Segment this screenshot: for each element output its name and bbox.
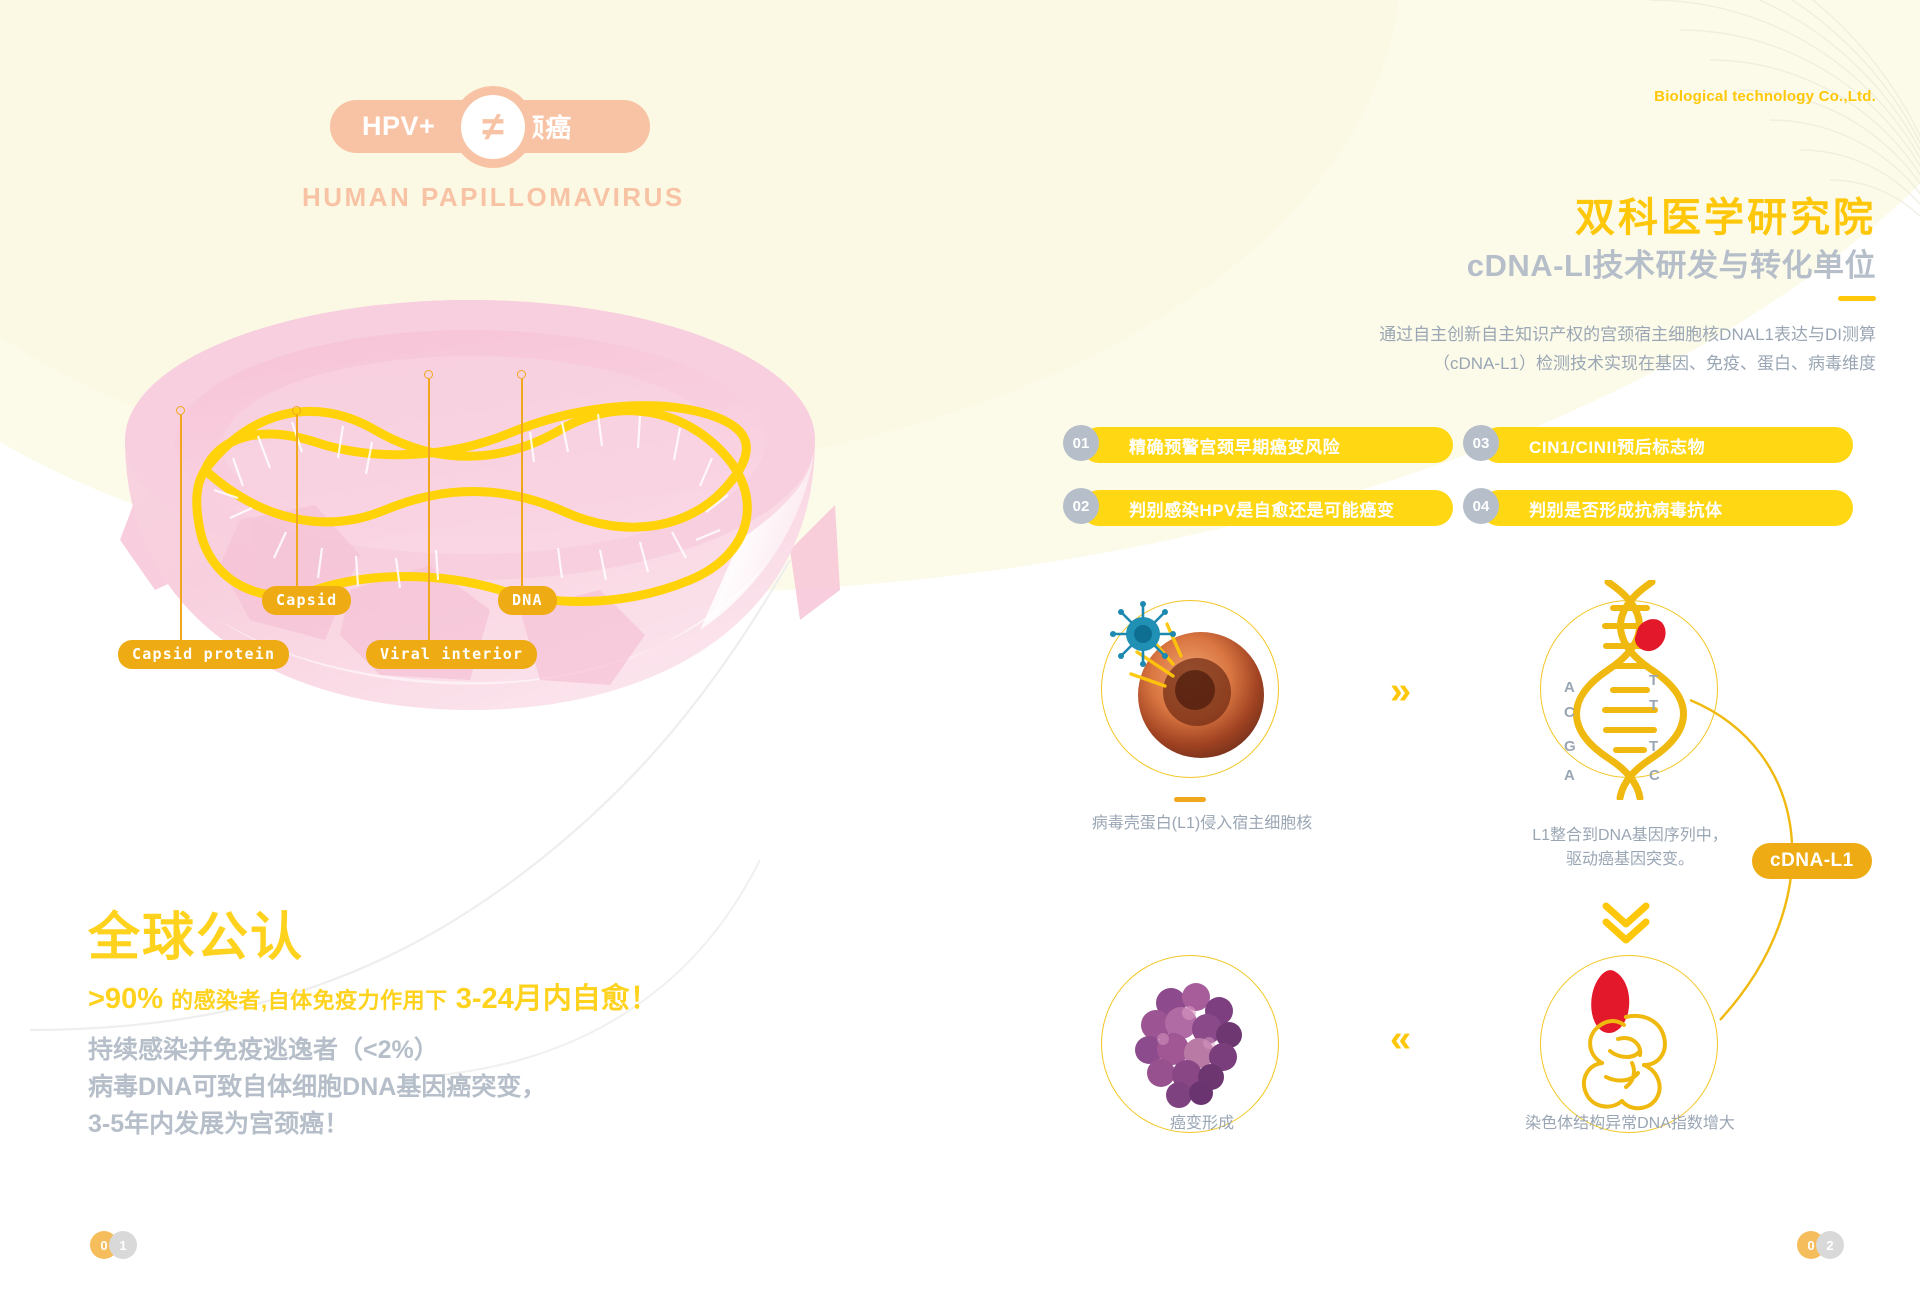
- leader-dot-dna: [517, 370, 526, 379]
- corporate-name: Biological technology Co.,Ltd.: [1654, 88, 1876, 105]
- leader-line-capsid-protein: [180, 415, 182, 644]
- leader-line-dna: [521, 379, 523, 586]
- arrow-down-icon: [1598, 900, 1654, 946]
- global-consensus-body: 持续感染并免疫逃逸者（<2%） 病毒DNA可致自体细胞DNA基因癌突变， 3-5…: [88, 1032, 546, 1143]
- caption-rule-step-1: [1174, 797, 1206, 802]
- arrow-right-icon: »: [1390, 672, 1411, 710]
- dna-base-left-4: A: [1564, 767, 1575, 784]
- cdna-l1-badge[interactable]: cDNA-L1: [1752, 843, 1872, 879]
- feature-number-04: 04: [1463, 488, 1499, 524]
- leader-line-viral-interior: [428, 379, 430, 644]
- page-number-right: 0 2: [1797, 1231, 1844, 1259]
- label-capsid-protein[interactable]: Capsid protein: [118, 640, 289, 669]
- feature-label-04: 判别是否形成抗病毒抗体: [1529, 496, 1723, 521]
- dna-base-right-3: T: [1649, 738, 1658, 755]
- hpv-subtitle: HUMAN PAPILLOMAVIRUS: [302, 182, 685, 213]
- feature-item-04[interactable]: 判别是否形成抗病毒抗体 04: [1463, 490, 1853, 526]
- page-number-left-second: 1: [109, 1231, 137, 1259]
- infographic-page: HPV+ 宫颈癌 ≠ HUMAN PAPILLOMAVIRUS: [0, 0, 1920, 1303]
- global-consensus-stat: >90% 的感染者,自体免疫力作用下 3-24月内自愈！: [88, 975, 659, 1017]
- leader-dot-viral-interior: [424, 370, 433, 379]
- dna-base-right-4: C: [1649, 767, 1660, 784]
- feature-number-01: 01: [1063, 425, 1099, 461]
- stat-mid: 的感染者,自体免疫力作用下: [171, 988, 448, 1013]
- label-dna[interactable]: DNA: [498, 586, 557, 615]
- process-caption-step-1: 病毒壳蛋白(L1)侵入宿主细胞核: [1082, 812, 1322, 836]
- dna-base-left-1: A: [1564, 679, 1575, 696]
- institute-title: 双科医学研究院: [1575, 185, 1876, 243]
- process-caption-step-4: 癌变形成: [1082, 1112, 1322, 1136]
- feature-number-02: 02: [1063, 488, 1099, 524]
- stat-percent: >90%: [88, 983, 163, 1015]
- not-equal-circle: ≠: [452, 86, 534, 168]
- label-capsid[interactable]: Capsid: [262, 586, 351, 615]
- label-viral-interior[interactable]: Viral interior: [366, 640, 537, 669]
- feature-number-03: 03: [1463, 425, 1499, 461]
- dna-base-right-2: T: [1649, 697, 1658, 714]
- global-consensus-headline: 全球公认: [88, 895, 304, 970]
- page-number-left: 0 1: [90, 1231, 137, 1259]
- dna-base-left-2: C: [1564, 704, 1575, 721]
- virus-invasion-illustration: [1101, 600, 1279, 778]
- process-caption-step-3: 染色体结构异常DNA指数增大: [1480, 1112, 1780, 1136]
- hpv-virion-icon: [1110, 601, 1176, 667]
- dna-base-right-1: T: [1649, 672, 1658, 689]
- chromosome-abnormality-illustration: [1540, 955, 1718, 1133]
- feature-label-03: CIN1/CINII预后标志物: [1529, 433, 1705, 458]
- leader-line-capsid: [296, 415, 298, 586]
- feature-item-03[interactable]: CIN1/CINII预后标志物 03: [1463, 427, 1853, 463]
- feature-label-02: 判别感染HPV是自愈还是可能癌变: [1129, 496, 1395, 521]
- feature-label-01: 精确预警宫颈早期癌变风险: [1129, 433, 1340, 458]
- title-divider: [1838, 296, 1876, 301]
- stat-emphasis: 3-24月内自愈！: [456, 983, 659, 1015]
- page-number-right-second: 2: [1816, 1231, 1844, 1259]
- feature-item-01[interactable]: 精确预警宫颈早期癌变风险 01: [1063, 427, 1453, 463]
- tumour-cell-cluster: [1135, 983, 1242, 1108]
- feature-item-02[interactable]: 判别感染HPV是自愈还是可能癌变 02: [1063, 490, 1453, 526]
- tumour-mass-illustration: [1101, 955, 1279, 1133]
- institute-subtitle: cDNA-LI技术研发与转化单位: [1467, 240, 1876, 285]
- hpv-badge-left-label: HPV+: [362, 111, 435, 142]
- leader-dot-capsid: [292, 406, 301, 415]
- institute-description: 通过自主创新自主知识产权的宫颈宿主细胞核DNAL1表达与DI测算 （cDNA-L…: [1276, 320, 1876, 378]
- arrow-left-icon: «: [1390, 1020, 1411, 1058]
- not-equal-icon: ≠: [461, 95, 525, 159]
- dna-base-left-3: G: [1564, 738, 1576, 755]
- leader-dot-capsid-protein: [176, 406, 185, 415]
